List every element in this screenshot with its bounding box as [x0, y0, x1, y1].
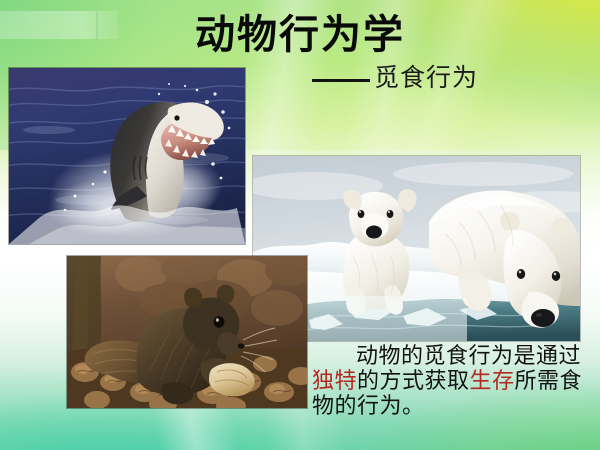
body-segment-1: 动物的觅食行为是通 [356, 344, 559, 369]
body-segment-3: 的方式获取 [357, 369, 470, 394]
presentation-slide: 动物行为学 觅食行为 [0, 0, 600, 450]
squirrel-illustration [67, 256, 307, 408]
slide-body-text: 动物的觅食行为是通过独特的方式获取生存所需食物的行为。 [312, 344, 594, 419]
body-segment-2: 过 [559, 344, 582, 369]
body-highlight-survival: 生存 [470, 369, 515, 394]
body-highlight-unique: 独特 [312, 369, 357, 394]
slide-subtitle-label: 觅食行为 [374, 63, 478, 93]
photo-great-white-shark-breaching [9, 68, 245, 244]
shark-illustration [9, 68, 245, 244]
em-dash-rule [312, 79, 370, 82]
slide-subtitle: 觅食行为 [312, 63, 478, 93]
photo-squirrel-eating-nut [67, 256, 307, 408]
slide-title: 动物行为学 [0, 12, 600, 58]
